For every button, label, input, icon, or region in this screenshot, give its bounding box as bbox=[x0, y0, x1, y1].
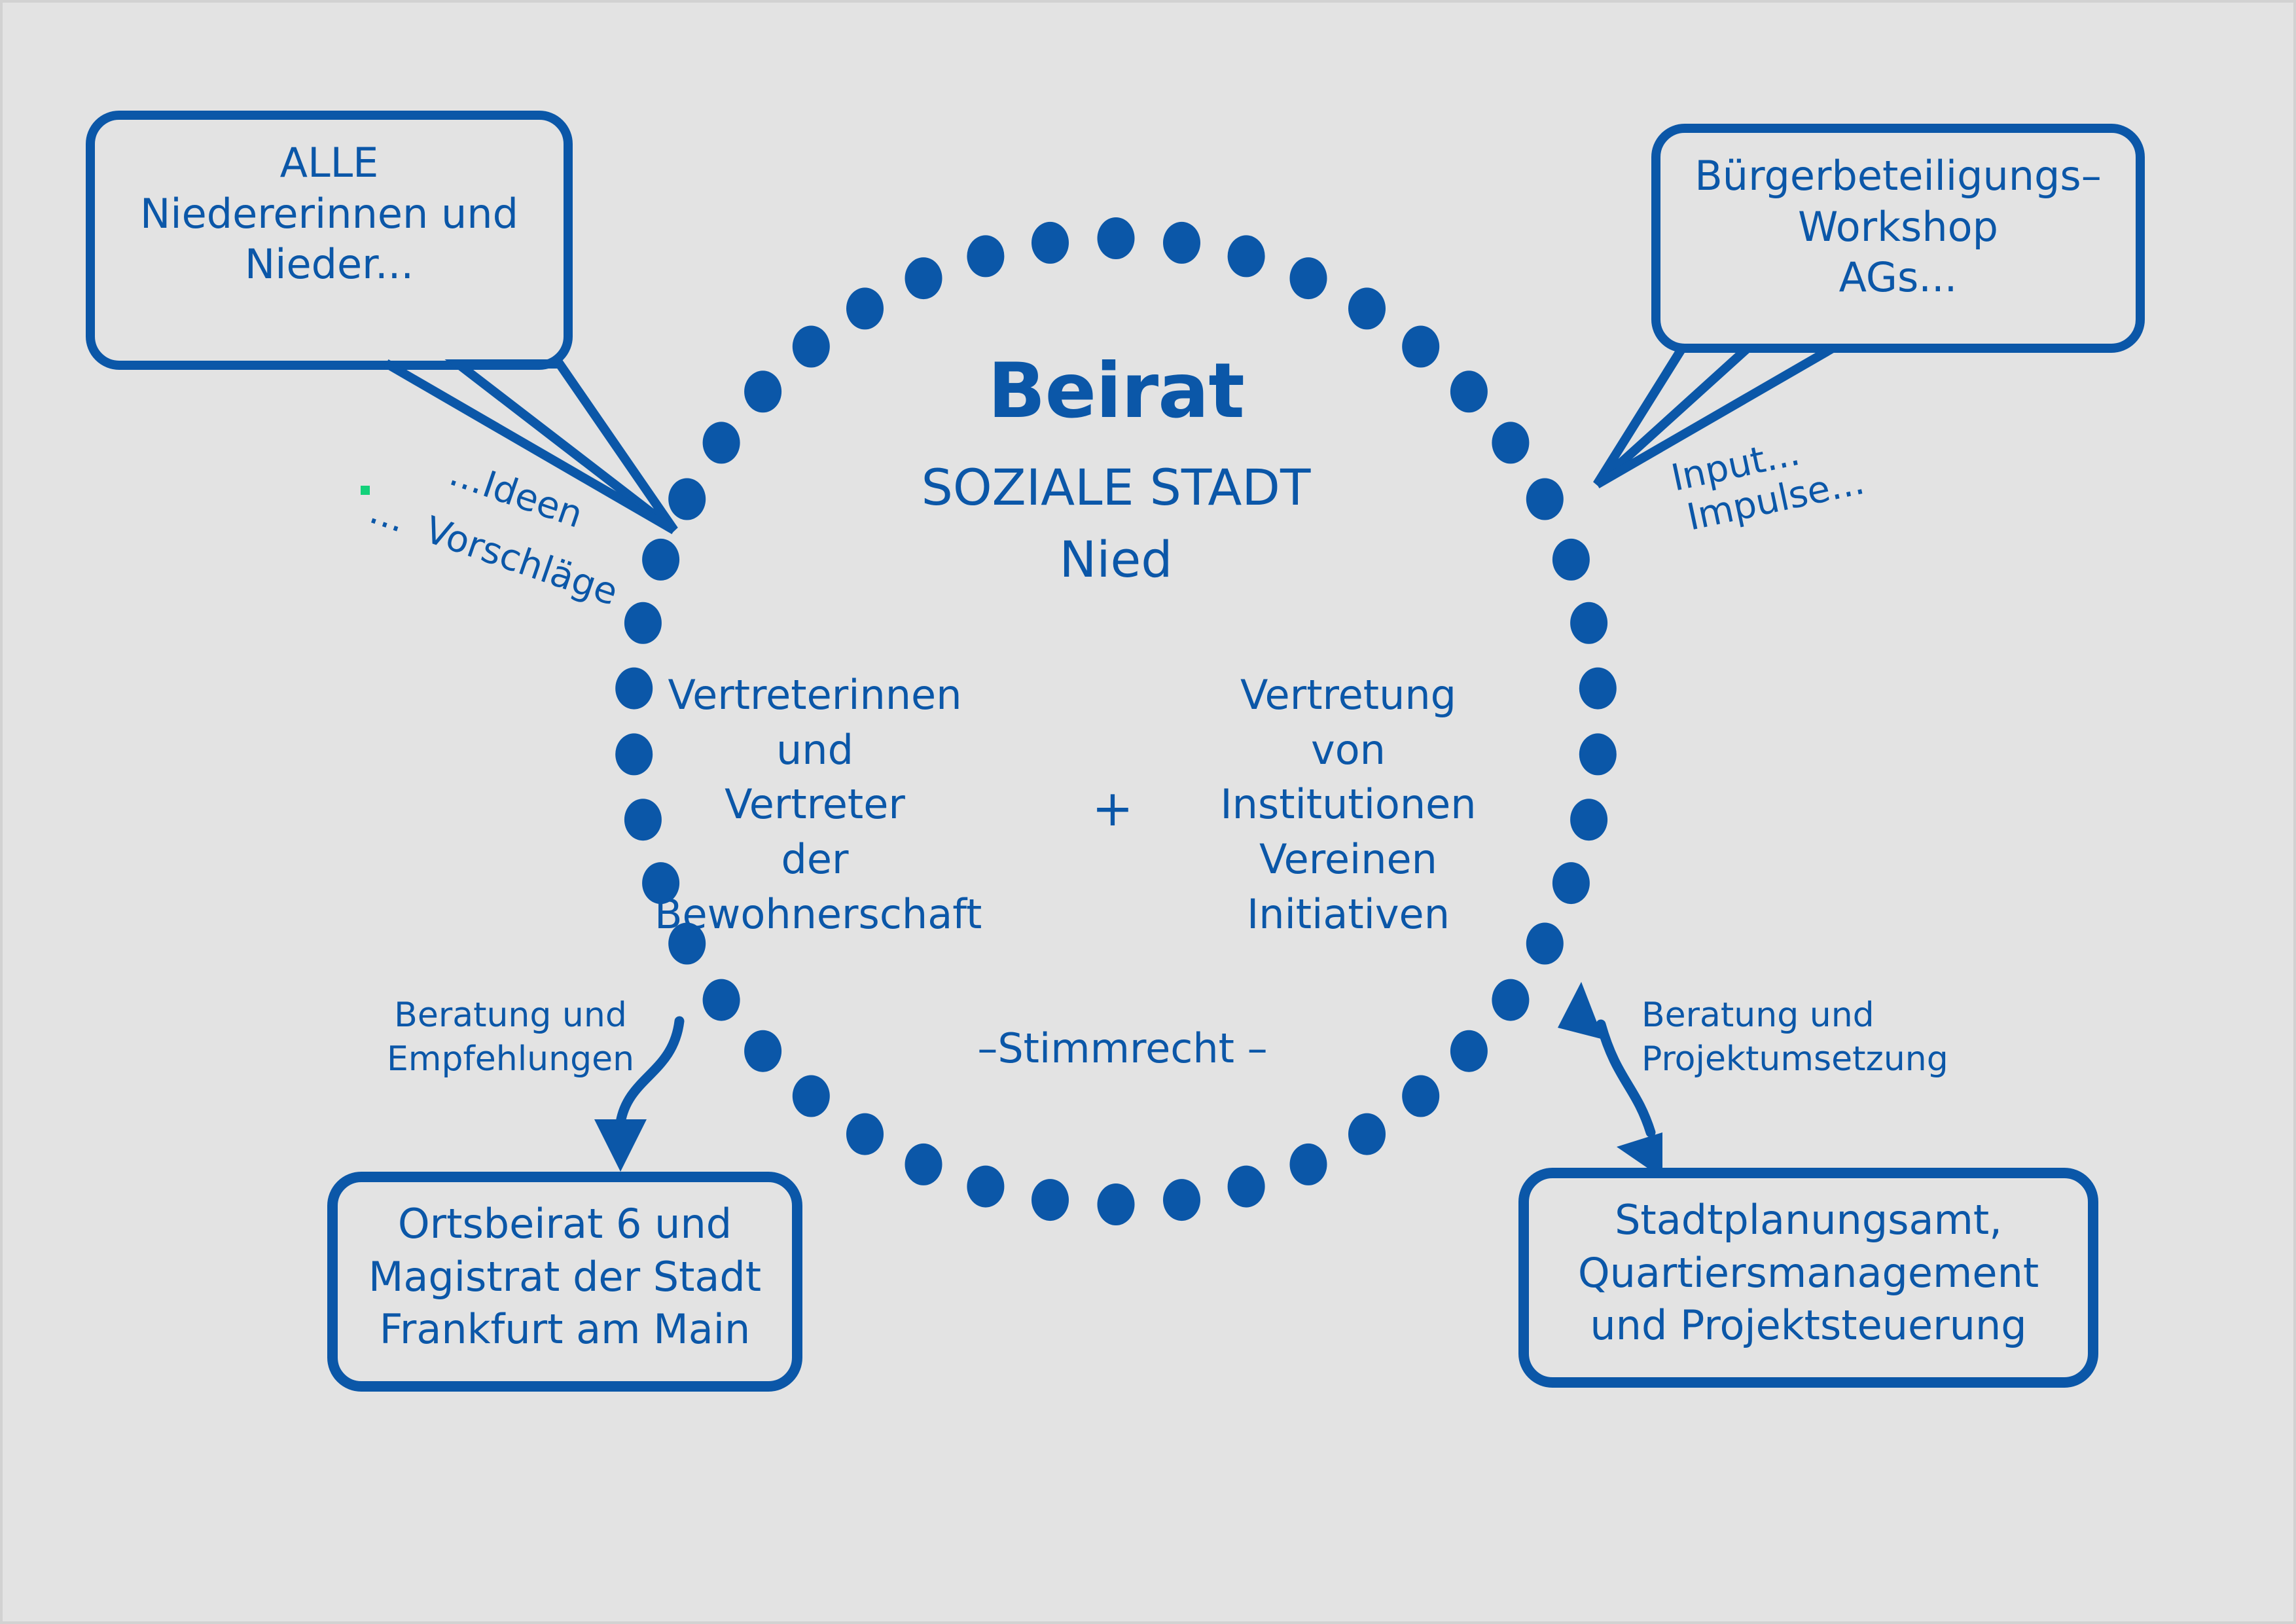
ring-dot bbox=[1526, 923, 1564, 965]
box-bottom-right-line3: und Projektsteuerung bbox=[1524, 1299, 2093, 1352]
ring-dot bbox=[1098, 217, 1135, 259]
bubble-top-right-line3: AGs... bbox=[1656, 252, 2140, 303]
ring-dot bbox=[744, 1030, 781, 1072]
ring-dot bbox=[1228, 1166, 1265, 1208]
ring-dot bbox=[1402, 1075, 1439, 1117]
center-right-column: VertretungvonInstitutionenVereinenInitia… bbox=[1208, 668, 1489, 941]
ring-dot bbox=[1552, 539, 1590, 581]
ring-dot bbox=[1579, 733, 1617, 775]
ring-dot bbox=[1163, 1179, 1200, 1221]
box-bottom-right-text: Stadtplanungsamt, Quartiersmanagement un… bbox=[1524, 1194, 2093, 1352]
stimmrecht-note: –Stimmrecht – bbox=[920, 1024, 1325, 1072]
green-marker-dot bbox=[361, 486, 370, 495]
annotation-beratung-projektumsetzung-line1: Beratung und bbox=[1641, 994, 1956, 1038]
ring-dot bbox=[615, 668, 653, 710]
box-bottom-right-line2: Quartiersmanagement bbox=[1524, 1247, 2093, 1300]
center-subtitle-line2: Nied bbox=[723, 530, 1509, 588]
bubble-top-right-line2: Workshop bbox=[1656, 202, 2140, 253]
box-bottom-left-text: Ortsbeirat 6 und Magistrat der Stadt Fra… bbox=[332, 1198, 797, 1356]
box-bottom-left-line3: Frankfurt am Main bbox=[332, 1303, 797, 1356]
ring-dot bbox=[967, 235, 1004, 277]
ring-dot bbox=[1290, 257, 1327, 299]
ring-dot bbox=[642, 539, 679, 581]
center-left-column: VertreterinnenundVertreterderBewohnersch… bbox=[655, 668, 975, 941]
ring-dot bbox=[1570, 799, 1607, 840]
ring-dot bbox=[905, 257, 942, 299]
bubble-top-left-line3: Nieder... bbox=[90, 239, 568, 290]
ring-dot bbox=[793, 1075, 830, 1117]
ring-dot bbox=[967, 1166, 1004, 1208]
box-bottom-left-line2: Magistrat der Stadt bbox=[332, 1251, 797, 1304]
diagram-canvas: ALLE Niedererinnen und Nieder... Bürgerb… bbox=[0, 0, 2296, 1624]
ring-dot bbox=[1031, 1179, 1069, 1221]
center-title: Beirat bbox=[723, 347, 1509, 435]
annotation-beratung-projektumsetzung: Beratung und Projektumsetzung bbox=[1641, 994, 1956, 1081]
ring-dot bbox=[1552, 862, 1590, 904]
ring-dot bbox=[1526, 478, 1564, 520]
center-subtitle-line1: SOZIALE STADT bbox=[723, 458, 1509, 516]
ring-dot bbox=[615, 733, 653, 775]
center-left-column-text: VertreterinnenundVertreterderBewohnersch… bbox=[655, 668, 975, 941]
ring-dot bbox=[624, 602, 662, 644]
annotation-beratung-empfehlungen-line2: Empfehlungen bbox=[380, 1038, 641, 1081]
ring-dot bbox=[1163, 222, 1200, 264]
ring-dot bbox=[1031, 222, 1069, 264]
ring-dot bbox=[1570, 602, 1607, 644]
ring-dot bbox=[1450, 1030, 1488, 1072]
ring-dot bbox=[1098, 1183, 1135, 1225]
ring-dot bbox=[846, 1113, 884, 1155]
plus-operator: + bbox=[1073, 779, 1152, 837]
ring-dot bbox=[1579, 668, 1617, 710]
bubble-top-right-line1: Bürgerbeteiligungs– bbox=[1656, 151, 2140, 202]
annotation-beratung-projektumsetzung-line2: Projektumsetzung bbox=[1641, 1038, 1956, 1081]
bubble-top-left-text: ALLE Niedererinnen und Nieder... bbox=[90, 137, 568, 290]
bubble-top-right-text: Bürgerbeteiligungs– Workshop AGs... bbox=[1656, 151, 2140, 303]
ring-dot bbox=[1348, 1113, 1386, 1155]
ring-dot bbox=[1290, 1144, 1327, 1185]
box-bottom-right-line1: Stadtplanungsamt, bbox=[1524, 1194, 2093, 1247]
bubble-top-left-line2: Niedererinnen und bbox=[90, 189, 568, 240]
box-bottom-left-line1: Ortsbeirat 6 und bbox=[332, 1198, 797, 1251]
ring-dot bbox=[905, 1144, 942, 1185]
ring-dot bbox=[668, 478, 706, 520]
ring-dot bbox=[1492, 979, 1529, 1021]
bubble-top-left-line1: ALLE bbox=[90, 137, 568, 189]
ring-dot bbox=[703, 979, 740, 1021]
center-right-column-text: VertretungvonInstitutionenVereinenInitia… bbox=[1208, 668, 1489, 941]
ring-dot bbox=[846, 287, 884, 329]
annotation-beratung-empfehlungen: Beratung und Empfehlungen bbox=[380, 994, 641, 1081]
ring-dot bbox=[1348, 287, 1386, 329]
ring-dot bbox=[1228, 235, 1265, 277]
annotation-beratung-empfehlungen-line1: Beratung und bbox=[380, 994, 641, 1038]
